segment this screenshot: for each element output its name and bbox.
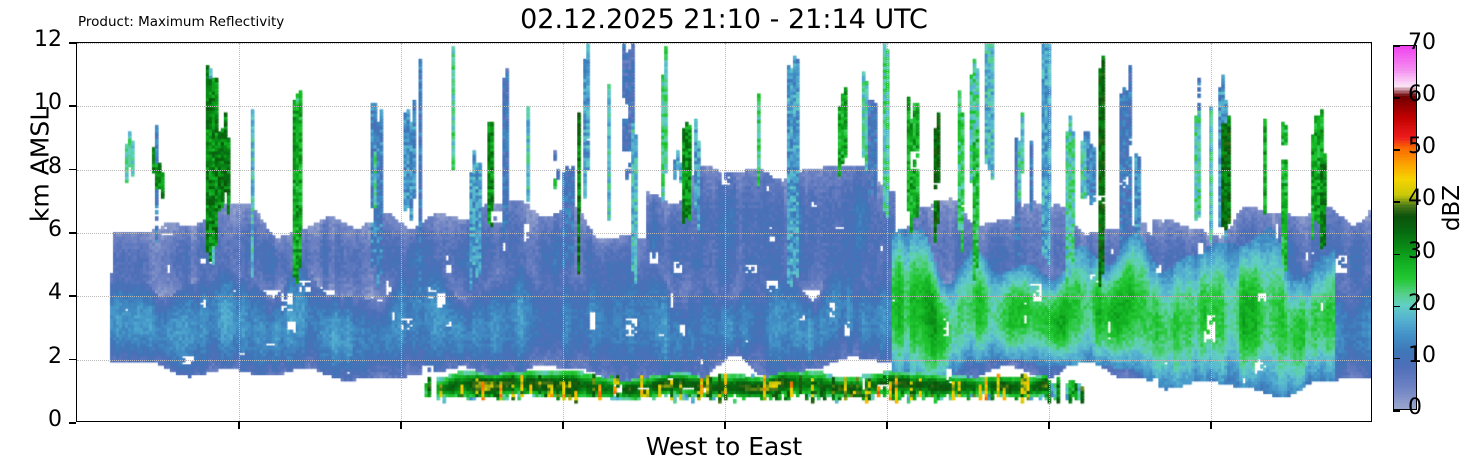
y-tick-mark xyxy=(69,105,76,107)
colorbar-tick-label: 30 xyxy=(1408,239,1436,264)
colorbar-tick-label: 60 xyxy=(1408,82,1436,107)
y-tick-mark xyxy=(69,42,76,44)
colorbar-tick-label: 50 xyxy=(1408,134,1436,159)
colorbar-label: dBZ xyxy=(1439,148,1465,268)
x-tick-mark xyxy=(238,422,240,429)
reflectivity-heatmap-canvas xyxy=(77,43,1371,421)
x-tick-mark xyxy=(1210,422,1212,429)
colorbar-tick-label: 20 xyxy=(1408,291,1436,316)
y-axis-label: km AMSL xyxy=(26,55,55,275)
colorbar-tick-mark xyxy=(1393,358,1400,360)
y-tick-mark xyxy=(69,295,76,297)
colorbar-tick-mark xyxy=(1393,45,1400,47)
colorbar-tick-label: 0 xyxy=(1408,395,1422,420)
x-tick-mark xyxy=(562,422,564,429)
colorbar-tick-mark xyxy=(1393,306,1400,308)
y-tick-mark xyxy=(69,359,76,361)
plot-area xyxy=(76,42,1372,422)
colorbar-tick-mark xyxy=(1393,97,1400,99)
product-label: Product: Maximum Reflectivity xyxy=(78,14,284,30)
x-tick-mark xyxy=(886,422,888,429)
colorbar-tick-label: 10 xyxy=(1408,343,1436,368)
y-tick-label: 2 xyxy=(14,344,62,369)
colorbar-tick-label: 40 xyxy=(1408,186,1436,211)
x-tick-mark xyxy=(400,422,402,429)
y-tick-label: 12 xyxy=(14,27,62,52)
colorbar-tick-mark xyxy=(1393,201,1400,203)
colorbar-tick-mark xyxy=(1393,149,1400,151)
y-tick-mark xyxy=(69,232,76,234)
colorbar-tick-label: 70 xyxy=(1408,30,1436,55)
y-tick-mark xyxy=(69,422,76,424)
y-tick-label: 0 xyxy=(14,407,62,432)
x-tick-mark xyxy=(724,422,726,429)
colorbar-tick-mark xyxy=(1393,410,1400,412)
radar-cross-section-figure: 02.12.2025 21:10 - 21:14 UTC Product: Ma… xyxy=(0,0,1482,470)
y-tick-mark xyxy=(69,169,76,171)
x-axis-label: West to East xyxy=(76,432,1372,461)
y-tick-label: 4 xyxy=(14,280,62,305)
x-tick-mark xyxy=(1048,422,1050,429)
colorbar-tick-mark xyxy=(1393,254,1400,256)
